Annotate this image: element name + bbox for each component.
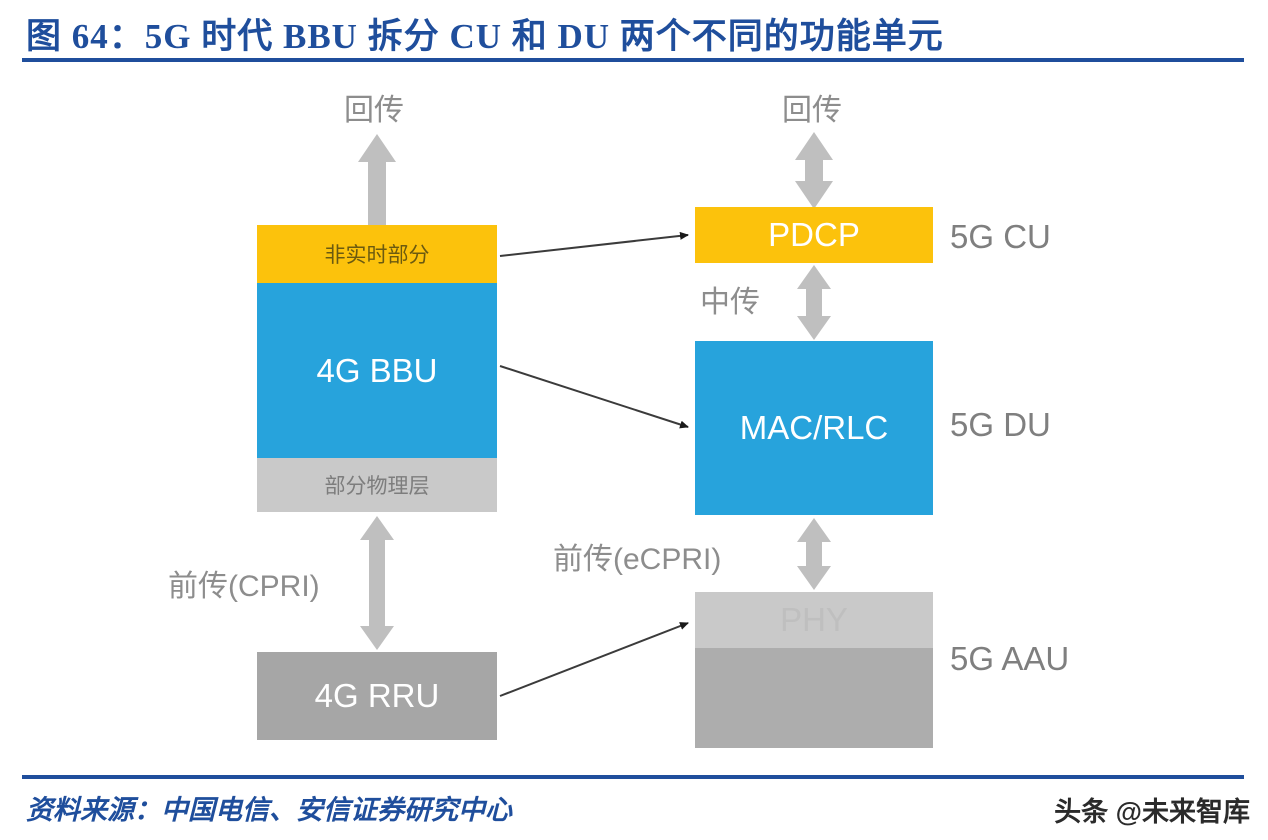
connector-rru-to-phy [500,623,688,696]
box-aau-body[interactable] [695,648,933,748]
page-title: 图 64：5G 时代 BBU 拆分 CU 和 DU 两个不同的功能单元 [26,8,944,59]
label-5g-aau: 5G AAU [950,640,1069,678]
box-non-realtime-part[interactable]: 非实时部分 [257,225,497,283]
source-note: 资料来源：中国电信、安信证券研究中心 [26,788,512,827]
box-4g-rru[interactable]: 4G RRU [257,652,497,740]
box-partial-physical-layer[interactable]: 部分物理层 [257,458,497,512]
box-phy[interactable]: PHY [695,592,933,648]
block-arrow-fronthaul-ecpri [797,518,831,590]
box-mac-rlc[interactable]: MAC/RLC [695,341,933,515]
diagram-canvas: 非实时部分 4G BBU 部分物理层 4G RRU PDCP MAC/RLC P… [0,66,1268,775]
box-pdcp[interactable]: PDCP [695,207,933,263]
figure-title-bar: 图 64：5G 时代 BBU 拆分 CU 和 DU 两个不同的功能单元 [0,0,1268,66]
figure-root: 图 64：5G 时代 BBU 拆分 CU 和 DU 两个不同的功能单元 [0,0,1268,840]
label-backhaul-right: 回传 [782,85,842,129]
title-divider [22,58,1244,62]
label-backhaul-left: 回传 [344,85,404,129]
label-5g-du: 5G DU [950,406,1051,444]
footer-divider [22,775,1244,779]
diagram-connectors [0,66,1268,775]
label-midhaul: 中传 [700,277,760,321]
block-arrow-fronthaul-cpri [360,516,394,650]
connector-bbu-to-macrlc [500,366,688,427]
block-arrow-backhaul-left [358,134,396,225]
label-fronthaul-ecpri: 前传(eCPRI) [553,534,721,578]
block-arrow-backhaul-right [795,132,833,209]
block-arrow-midhaul [797,265,831,340]
box-4g-bbu[interactable]: 4G BBU [257,283,497,458]
label-5g-cu: 5G CU [950,218,1051,256]
label-fronthaul-cpri: 前传(CPRI) [168,561,320,605]
watermark-label: 头条 @未来智库 [1054,790,1250,829]
connector-nonrealtime-to-pdcp [500,235,688,256]
